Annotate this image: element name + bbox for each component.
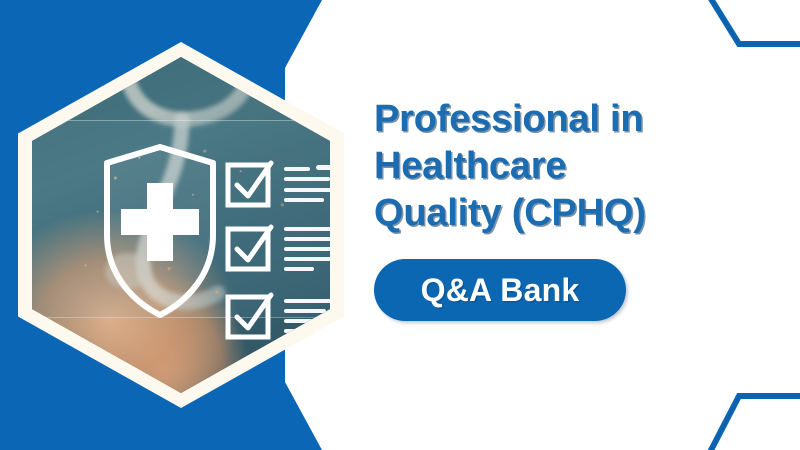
qa-bank-button[interactable]: Q&A Bank <box>374 259 626 321</box>
checked-checkbox-icon <box>228 165 268 205</box>
checked-checkbox-icon <box>228 297 268 337</box>
banner-content: Professional in Healthcare Quality (CPHQ… <box>374 96 778 321</box>
checklist-text-lines-1 <box>284 165 330 202</box>
hexagon-image-medallion <box>18 42 344 408</box>
checked-checkbox-icon <box>228 229 268 269</box>
checklist-item-2 <box>228 226 330 271</box>
checklist-item-1 <box>228 163 330 205</box>
checklist-text-lines-2 <box>284 226 330 271</box>
promo-banner: Professional in Healthcare Quality (CPHQ… <box>0 0 800 450</box>
page-title: Professional in Healthcare Quality (CPHQ… <box>374 96 778 237</box>
cta-row: Q&A Bank <box>374 259 778 321</box>
bottom-right-chevron-line-decoration <box>690 370 800 450</box>
top-right-chevron-line-decoration <box>690 0 800 80</box>
